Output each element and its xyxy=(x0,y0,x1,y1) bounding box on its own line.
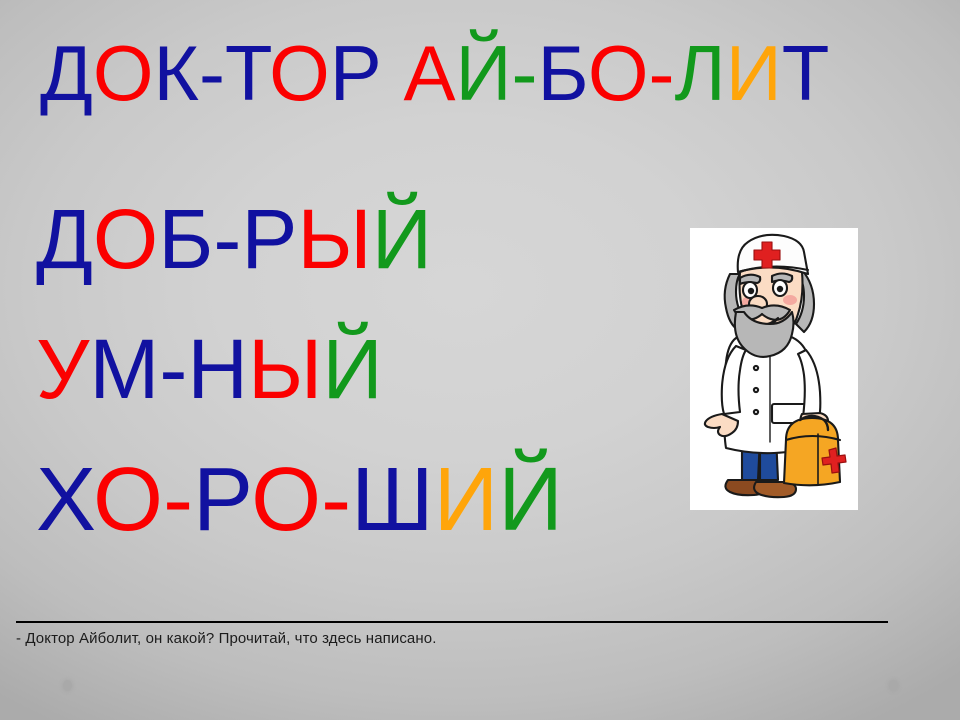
letter-glyph: - xyxy=(512,29,538,117)
letter-glyph: О xyxy=(93,29,154,117)
letter-glyph: Т xyxy=(225,29,269,117)
word-line-dobryy: ДОБ-РЫЙ xyxy=(36,197,432,281)
letter-glyph: Д xyxy=(36,192,93,286)
title-word-doktor-aibolit: ДОК-ТОР АЙ-БО-ЛИТ xyxy=(40,34,829,112)
letter-glyph: - xyxy=(163,450,193,550)
doctor-illustration-svg xyxy=(690,228,858,510)
letter-glyph: Р xyxy=(330,29,382,117)
letter-glyph: Д xyxy=(40,29,93,117)
letter-glyph: Б xyxy=(158,192,213,286)
letter-glyph: Й xyxy=(322,322,382,416)
letter-glyph: Б xyxy=(538,29,588,117)
letter-glyph: О xyxy=(93,192,158,286)
letter-glyph: - xyxy=(321,450,351,550)
letter-glyph: Т xyxy=(782,29,830,117)
letter-glyph: Л xyxy=(675,29,726,117)
letter-glyph: Ы xyxy=(297,192,371,286)
letter-glyph: О xyxy=(269,29,330,117)
letter-glyph: Р xyxy=(241,192,297,286)
letter-glyph: - xyxy=(649,29,675,117)
letter-glyph: Й xyxy=(498,450,563,550)
letter-glyph: Й xyxy=(372,192,432,286)
letter-glyph: Х xyxy=(36,450,93,550)
letter-glyph: А xyxy=(403,29,455,117)
letter-glyph: М xyxy=(89,322,159,416)
letter-glyph: - xyxy=(159,322,187,416)
letter-glyph: Й xyxy=(455,29,511,117)
letter-glyph xyxy=(382,29,404,117)
letter-glyph: - xyxy=(199,29,225,117)
doctor-illustration xyxy=(690,228,858,510)
letter-glyph: О xyxy=(251,450,321,550)
decorative-dot-right xyxy=(889,680,898,691)
letter-glyph: К xyxy=(154,29,199,117)
decorative-dot-left xyxy=(63,680,72,691)
word-line-umnyy: УМ-НЫЙ xyxy=(36,327,383,411)
slide-canvas: ДОК-ТОР АЙ-БО-ЛИТ ДОБ-РЫЙ УМ-НЫЙ ХО-РО-Ш… xyxy=(0,0,960,720)
letter-glyph: Н xyxy=(187,322,248,416)
letter-glyph: - xyxy=(213,192,241,286)
word-line-khoroshiy: ХО-РО-ШИЙ xyxy=(36,455,563,545)
letter-glyph: О xyxy=(93,450,163,550)
letter-glyph: И xyxy=(726,29,782,117)
letter-glyph: Ы xyxy=(248,322,322,416)
caption-text: - Доктор Айболит, он какой? Прочитай, чт… xyxy=(16,630,916,647)
letter-glyph: Р xyxy=(193,450,251,550)
footer-divider xyxy=(16,621,888,623)
letter-glyph: Ш xyxy=(351,450,434,550)
letter-glyph: О xyxy=(588,29,649,117)
letter-glyph: И xyxy=(434,450,499,550)
letter-glyph: У xyxy=(36,322,89,416)
